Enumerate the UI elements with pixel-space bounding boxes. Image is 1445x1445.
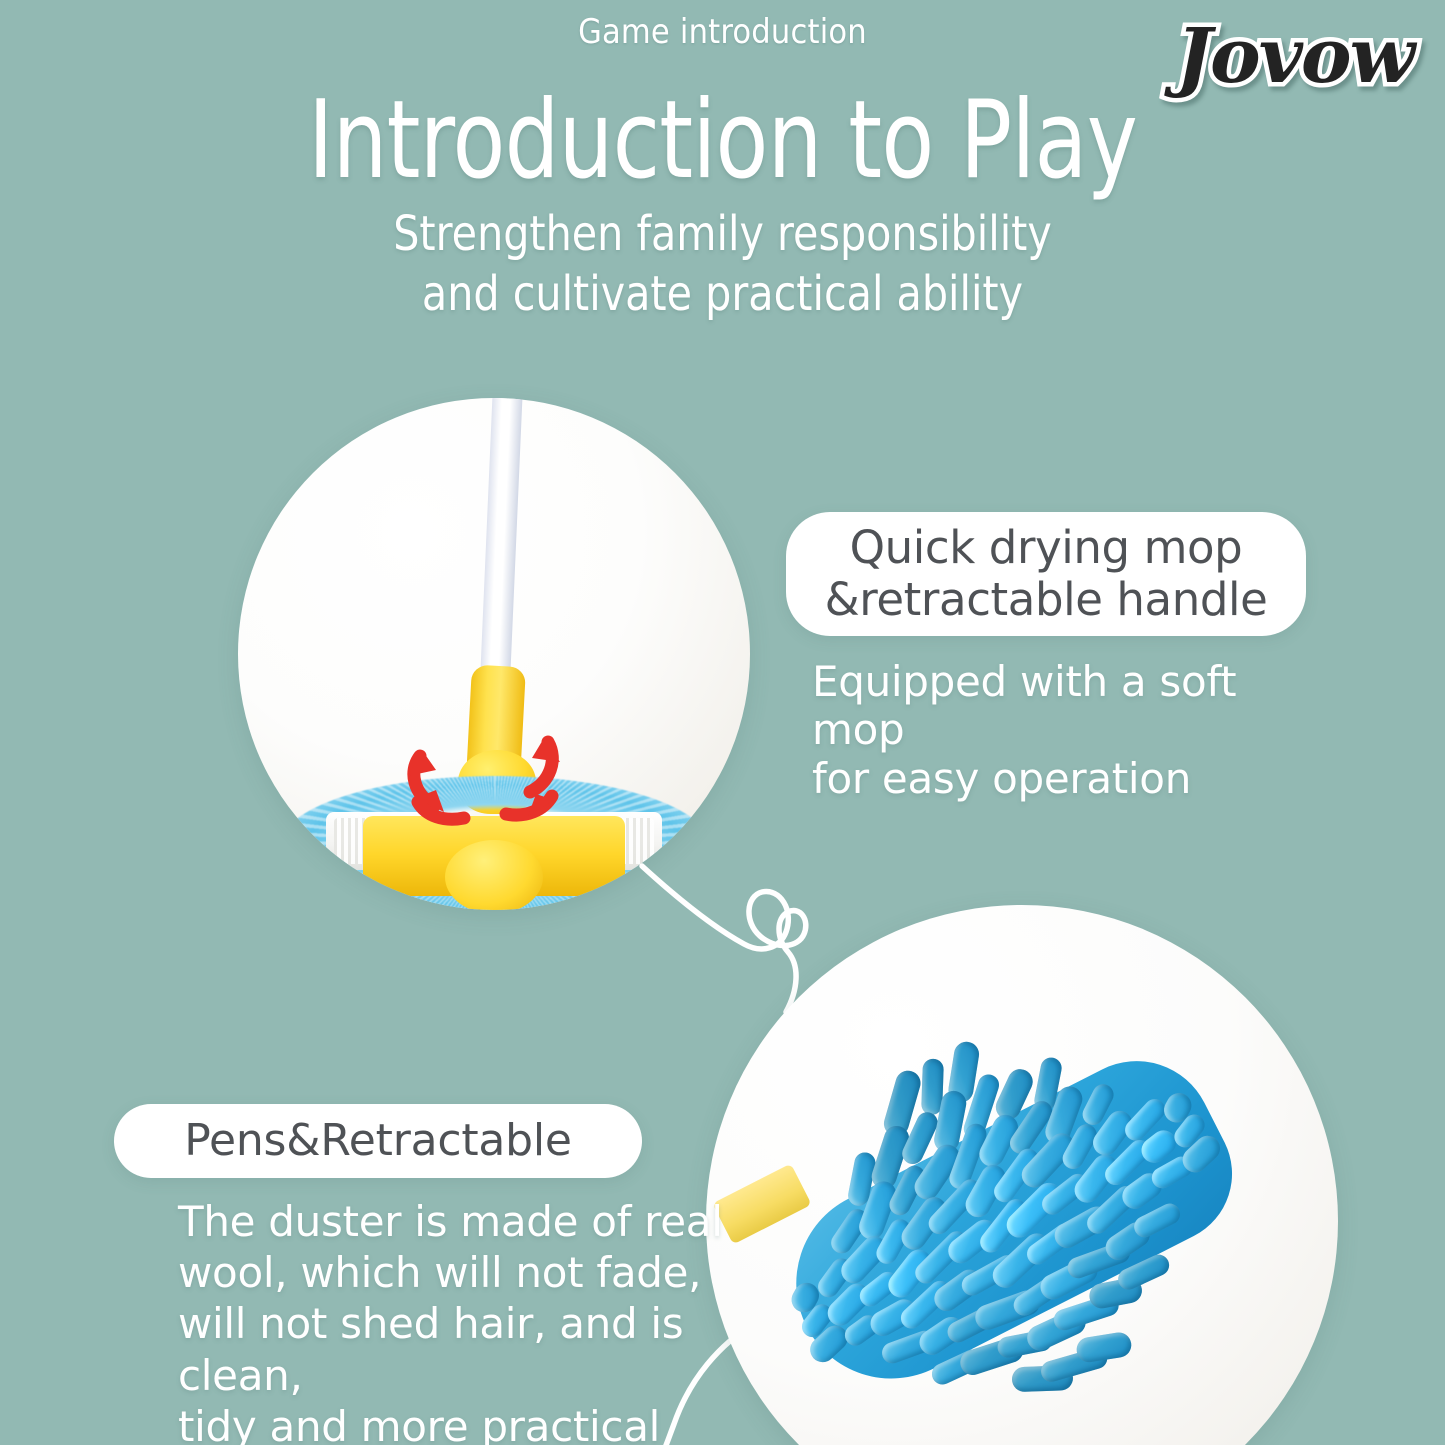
infographic-canvas: Game introduction Introduction to Play S… xyxy=(0,0,1445,1445)
feature-description-mop: Equipped with a soft mop for easy operat… xyxy=(812,658,1332,803)
product-photo-duster xyxy=(706,905,1338,1445)
duster-noodle-group xyxy=(706,919,1133,1146)
duster-chenille-body xyxy=(706,919,1328,1445)
feature-pill-mop-line1: Quick drying mop xyxy=(825,522,1268,574)
product-photo-mop xyxy=(238,398,750,910)
subtitle-line-2: and cultivate practical ability xyxy=(101,264,1344,325)
feature-pill-duster-line1: Pens&Retractable xyxy=(184,1119,572,1163)
feature-pill-mop: Quick drying mop &retractable handle xyxy=(786,512,1306,636)
feature-pill-mop-line2: &retractable handle xyxy=(825,574,1268,626)
feature-description-duster: The duster is made of real wool, which w… xyxy=(178,1196,798,1445)
rotation-arrow-icon xyxy=(238,398,750,910)
feature-pill-duster: Pens&Retractable xyxy=(114,1104,642,1178)
brand-logo: Jovow xyxy=(1166,14,1423,98)
subtitle-line-1: Strengthen family responsibility xyxy=(101,204,1344,265)
duster-noodle xyxy=(1075,1330,1133,1363)
page-title: Introduction to Play xyxy=(145,86,1301,196)
